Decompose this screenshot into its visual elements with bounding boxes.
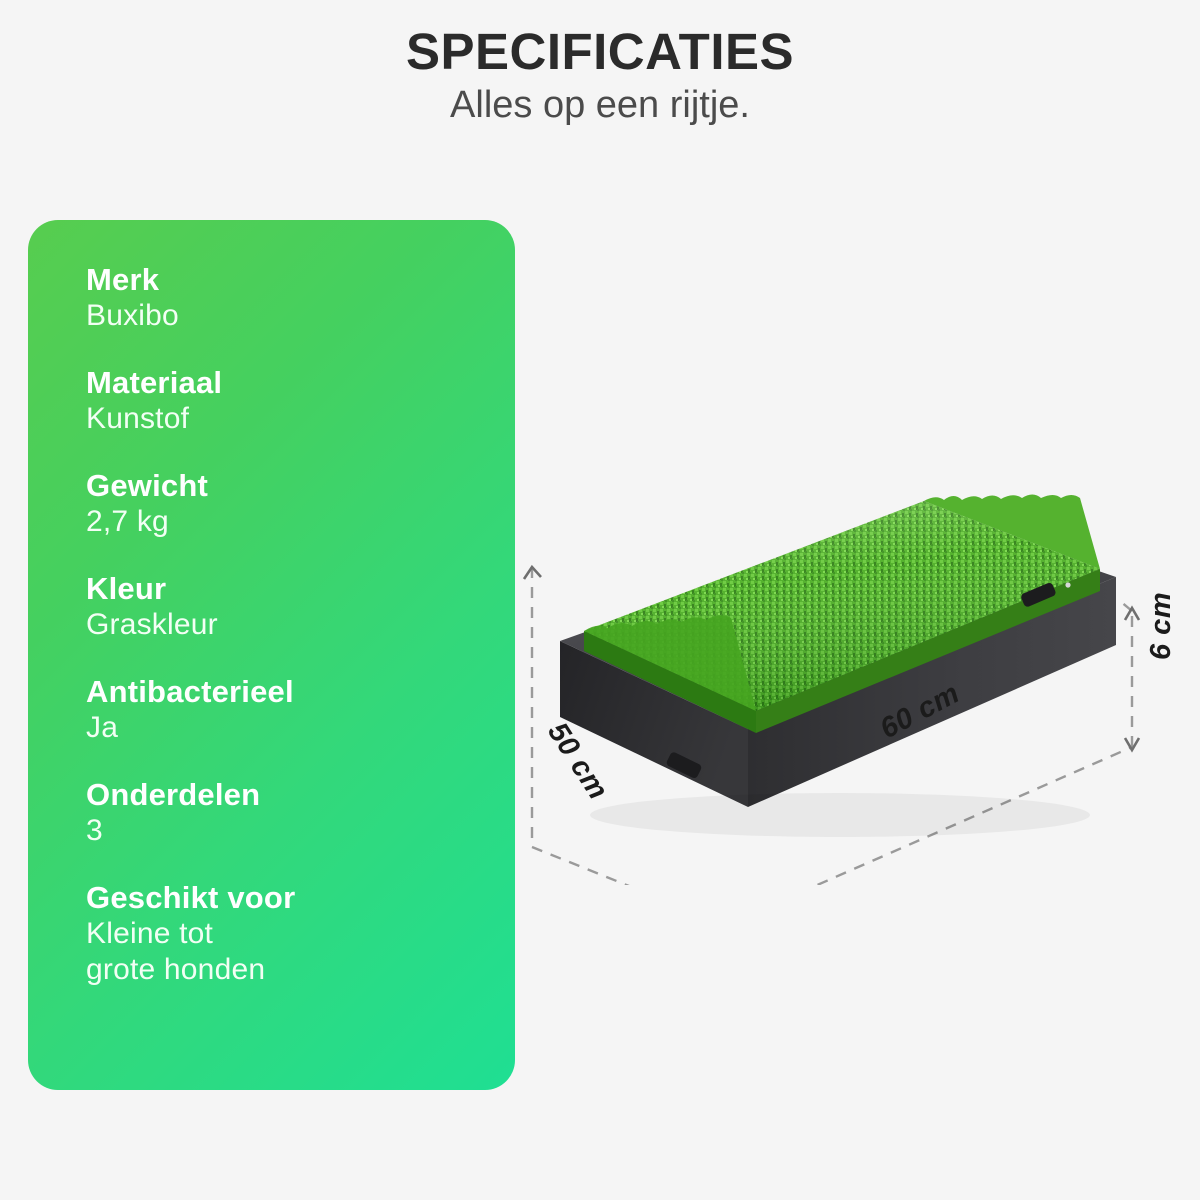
spec-value-kleur: Graskleur (86, 607, 485, 643)
spec-label-merk: Merk (86, 262, 485, 298)
spec-row-onderdelen: Onderdelen 3 (86, 777, 485, 849)
specifications-card: Merk Buxibo Materiaal Kunstof Gewicht 2,… (28, 220, 515, 1090)
product-illustration (520, 455, 1180, 885)
spec-row-gewicht: Gewicht 2,7 kg (86, 468, 485, 540)
page-title: SPECIFICATIES (0, 24, 1200, 79)
spec-row-antibacterieel: Antibacterieel Ja (86, 674, 485, 746)
spec-value-gewicht: 2,7 kg (86, 504, 485, 540)
spec-row-kleur: Kleur Graskleur (86, 571, 485, 643)
page-subtitle: Alles op een rijtje. (0, 83, 1200, 129)
tray-screw-dot (1065, 582, 1070, 587)
spec-label-gewicht: Gewicht (86, 468, 485, 504)
product-shadow (590, 793, 1090, 837)
spec-value-geschikt-voor-line1: Kleine tot (86, 917, 213, 950)
spec-label-onderdelen: Onderdelen (86, 777, 485, 813)
infographic-canvas: SPECIFICATIES Alles op een rijtje. Merk … (0, 0, 1200, 1200)
header: SPECIFICATIES Alles op een rijtje. (0, 24, 1200, 129)
dimension-label-height: 6 cm (1145, 592, 1178, 660)
spec-value-onderdelen: 3 (86, 813, 485, 849)
spec-label-materiaal: Materiaal (86, 365, 485, 401)
spec-value-antibacterieel: Ja (86, 710, 485, 746)
spec-label-antibacterieel: Antibacterieel (86, 674, 485, 710)
spec-value-geschikt-voor: Kleine tot grote honden (86, 916, 485, 988)
spec-value-geschikt-voor-line2: grote honden (86, 952, 485, 988)
spec-row-geschikt-voor: Geschikt voor Kleine tot grote honden (86, 880, 485, 988)
spec-value-merk: Buxibo (86, 298, 485, 334)
spec-value-materiaal: Kunstof (86, 401, 485, 437)
product-image: 50 cm 60 cm 6 cm (520, 455, 1180, 885)
spec-row-materiaal: Materiaal Kunstof (86, 365, 485, 437)
spec-row-merk: Merk Buxibo (86, 262, 485, 334)
spec-label-kleur: Kleur (86, 571, 485, 607)
spec-label-geschikt-voor: Geschikt voor (86, 880, 485, 916)
